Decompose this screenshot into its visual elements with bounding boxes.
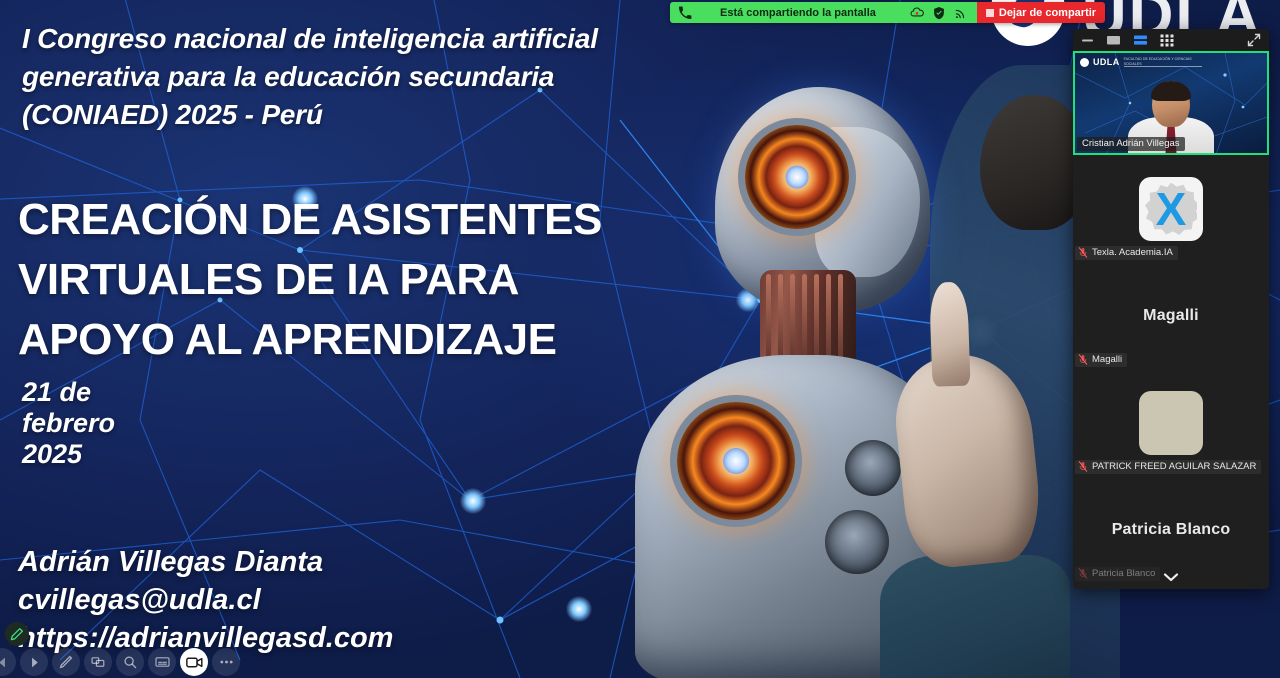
speaker-logo-text: UDLA (1093, 57, 1120, 67)
broadcast-icon[interactable] (954, 6, 968, 20)
more-options-button[interactable] (212, 648, 240, 676)
zoom-video-panel[interactable]: UDLA FACULTAD DE EDUCACIÓN Y CIENCIAS SO… (1073, 29, 1269, 589)
participant-name-badge: PATRICK FREED AGUILAR SALAZAR (1075, 460, 1261, 474)
slide-thumbnails-button[interactable] (84, 648, 112, 676)
previous-slide-button[interactable] (0, 648, 16, 676)
stop-sharing-label: Dejar de compartir (999, 7, 1096, 19)
single-view-icon[interactable] (1106, 34, 1121, 46)
presenter-contact-block: Adrián Villegas Dianta cvillegas@udla.cl… (18, 543, 393, 657)
presenter-name: Adrián Villegas Dianta (18, 543, 393, 581)
microphone-muted-icon (1078, 461, 1088, 472)
avatar-glyph: X (1156, 186, 1187, 232)
slide-main-title: CREACIÓN DE ASISTENTES VIRTUALES DE IA P… (18, 190, 658, 370)
avatar-display-name: Patricia Blanco (1112, 521, 1231, 539)
participant-name: Texla. Academia.IA (1092, 247, 1173, 258)
ai-robot-illustration (600, 55, 1120, 678)
presenter-toolbar[interactable] (0, 648, 240, 676)
participant-name-badge: Patricia Blanco (1075, 567, 1160, 581)
avatar: X (1139, 177, 1203, 241)
avatar (1139, 391, 1203, 455)
speaker-udla-logo: UDLA FACULTAD DE EDUCACIÓN Y CIENCIAS SO… (1080, 57, 1202, 67)
microphone-muted-icon (1078, 247, 1088, 258)
video-panel-controls (1073, 29, 1269, 51)
share-status-group: Está compartiendo la pantalla (670, 2, 977, 23)
participant-name: Magalli (1092, 354, 1122, 365)
shield-icon[interactable] (932, 6, 946, 20)
pen-tool-button[interactable] (52, 648, 80, 676)
share-status-label: Está compartiendo la pantalla (700, 7, 902, 19)
robot-eye-chest (670, 395, 802, 527)
active-speaker-tile[interactable]: UDLA FACULTAD DE EDUCACIÓN Y CIENCIAS SO… (1073, 51, 1269, 155)
expand-icon[interactable] (1247, 33, 1261, 47)
slide-date: 21 de febrero 2025 (22, 377, 115, 470)
udla-logo-icon (1080, 58, 1089, 67)
active-speaker-name: Cristian Adrián Villegas (1077, 137, 1185, 151)
camera-button[interactable] (180, 648, 208, 676)
participant-tile[interactable]: Magalli Magalli (1073, 262, 1269, 369)
cloud-recording-icon[interactable] (910, 6, 924, 20)
person-sleeve (880, 555, 1070, 678)
robot-body-port (845, 440, 901, 496)
microphone-muted-icon (1078, 568, 1088, 579)
congress-title: I Congreso nacional de inteligencia arti… (22, 20, 602, 134)
screen-share-bar: Está compartiendo la pantalla Dejar de c… (670, 2, 1105, 23)
subtitles-button[interactable] (148, 648, 176, 676)
split-view-icon[interactable] (1133, 34, 1148, 46)
stop-square-icon (986, 9, 994, 17)
participant-tile[interactable]: Patricia Blanco Patricia Blanco (1073, 476, 1269, 583)
gallery-view-icon[interactable] (1160, 34, 1175, 47)
zoom-slide-button[interactable] (116, 648, 144, 676)
chevron-down-icon[interactable] (1163, 569, 1179, 587)
speaker-logo-subtitle: FACULTAD DE EDUCACIÓN Y CIENCIAS SOCIALE… (1124, 57, 1202, 67)
robot-eye-head (738, 118, 856, 236)
screen-root: UDLA I Congreso nacional de inteligencia… (0, 0, 1280, 678)
participant-name-badge: Texla. Academia.IA (1075, 246, 1178, 260)
microphone-muted-icon (1078, 354, 1088, 365)
avatar-display-name: Magalli (1143, 307, 1199, 325)
participant-name: PATRICK FREED AGUILAR SALAZAR (1092, 461, 1256, 472)
stop-sharing-button[interactable]: Dejar de compartir (977, 2, 1105, 23)
presenter-email: cvillegas@udla.cl (18, 581, 393, 619)
robot-body-port (825, 510, 889, 574)
participant-name-badge: Magalli (1075, 353, 1127, 367)
participant-tile[interactable]: PATRICK FREED AGUILAR SALAZAR (1073, 369, 1269, 476)
annotation-pen-badge[interactable] (5, 622, 29, 646)
next-slide-button[interactable] (20, 648, 48, 676)
participant-name: Patricia Blanco (1092, 568, 1155, 579)
participant-tile[interactable]: X Texla. Academia.IA (1073, 155, 1269, 262)
phone-icon[interactable] (678, 6, 692, 20)
minimize-icon[interactable] (1081, 34, 1094, 46)
participant-tiles-list[interactable]: UDLA FACULTAD DE EDUCACIÓN Y CIENCIAS SO… (1073, 51, 1269, 589)
